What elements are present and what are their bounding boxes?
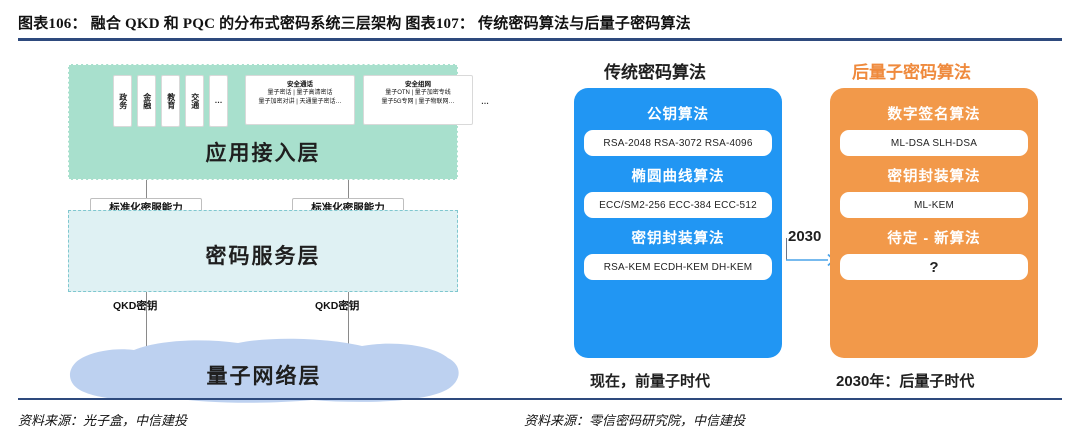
group-title-kem-pq: 密钥封装算法 xyxy=(830,165,1038,186)
app-access-layer: 政务 金融 教育 交通 … 安全通话 量子密话 | 量子高清密话 量子加密对讲 … xyxy=(68,64,458,180)
sector-label: 教育 xyxy=(166,93,174,109)
app-box-line: 量子密话 | 量子高清密话 xyxy=(249,89,351,98)
pre-quantum-column: 公钥算法 RSA-2048 RSA-3072 RSA-4096 椭圆曲线算法 E… xyxy=(574,88,782,358)
pre-quantum-heading: 传统密码算法 xyxy=(604,58,706,83)
service-layer-title: 密码服务层 xyxy=(69,240,457,270)
header: 图表106： 融合 QKD 和 PQC 的分布式密码系统三层架构 图表107： … xyxy=(0,0,1080,40)
group-title-digital-signature: 数字签名算法 xyxy=(830,103,1038,124)
group-values-tbd: ? xyxy=(840,254,1028,280)
group-values-kem-pq: ML-KEM xyxy=(840,192,1028,218)
app-box-line: 量子5G专网 | 量子物联网… xyxy=(367,98,469,107)
quantum-network-layer: 量子网络层 xyxy=(62,338,466,404)
source-note-right: 资料来源：零信密码研究院，中信建投 xyxy=(524,410,745,429)
pre-quantum-caption: 现在，前量子时代 xyxy=(590,370,710,391)
app-box-title: 安全组网 xyxy=(367,80,469,89)
header-divider xyxy=(18,38,1062,41)
transition-year-label: 2030 xyxy=(788,228,821,245)
app-layer-title: 应用接入层 xyxy=(69,137,457,167)
sector-chip-education: 教育 xyxy=(161,75,180,127)
app-box-secure-network: 安全组网 量子OTN | 量子加密专线 量子5G专网 | 量子物联网… xyxy=(363,75,473,125)
group-title-tbd: 待定 - 新算法 xyxy=(830,227,1038,248)
post-quantum-heading: 后量子密码算法 xyxy=(852,58,971,83)
app-box-line: 量子加密对讲 | 天通量子密话… xyxy=(249,98,351,107)
sector-label: 政务 xyxy=(118,93,126,109)
transition-arrow: 2030 xyxy=(786,230,834,274)
group-values-kem: RSA-KEM ECDH-KEM DH-KEM xyxy=(584,254,772,280)
sector-more-label: … xyxy=(215,97,223,105)
post-quantum-caption: 2030年：后量子时代 xyxy=(836,370,974,391)
group-title-kem: 密钥封装算法 xyxy=(574,227,782,248)
right-diagram: 传统密码算法 后量子密码算法 公钥算法 RSA-2048 RSA-3072 RS… xyxy=(530,44,1080,396)
group-title-public-key: 公钥算法 xyxy=(574,103,782,124)
left-diagram: 政务 金融 教育 交通 … 安全通话 量子密话 | 量子高清密话 量子加密对讲 … xyxy=(0,44,520,396)
group-values-digital-signature: ML-DSA SLH-DSA xyxy=(840,130,1028,156)
app-box-line: 量子OTN | 量子加密专线 xyxy=(367,89,469,98)
post-quantum-column: 数字签名算法 ML-DSA SLH-DSA 密钥封装算法 ML-KEM 待定 -… xyxy=(830,88,1038,358)
source-note-left: 资料来源：光子盒，中信建投 xyxy=(18,410,187,429)
group-title-ecc: 椭圆曲线算法 xyxy=(574,165,782,186)
network-layer-title: 量子网络层 xyxy=(62,360,466,390)
app-box-title: 安全通话 xyxy=(249,80,351,89)
footer-divider xyxy=(18,398,1062,400)
qkd-key-label-right: QKD密钥 xyxy=(315,298,359,313)
sector-chip-transport: 交通 xyxy=(185,75,204,127)
app-box-more-label: … xyxy=(481,97,489,106)
group-values-public-key: RSA-2048 RSA-3072 RSA-4096 xyxy=(584,130,772,156)
page-title: 图表106： 融合 QKD 和 PQC 的分布式密码系统三层架构 图表107： … xyxy=(18,12,691,33)
qkd-key-label-left: QKD密钥 xyxy=(113,298,157,313)
sector-label: 交通 xyxy=(190,93,198,109)
app-box-secure-call: 安全通话 量子密话 | 量子高清密话 量子加密对讲 | 天通量子密话… xyxy=(245,75,355,125)
crypto-service-layer: 密码服务层 xyxy=(68,210,458,292)
sector-chip-government: 政务 xyxy=(113,75,132,127)
group-values-ecc: ECC/SM2-256 ECC-384 ECC-512 xyxy=(584,192,772,218)
sector-chip-more: … xyxy=(209,75,228,127)
sector-label: 金融 xyxy=(142,93,150,109)
sector-chip-finance: 金融 xyxy=(137,75,156,127)
